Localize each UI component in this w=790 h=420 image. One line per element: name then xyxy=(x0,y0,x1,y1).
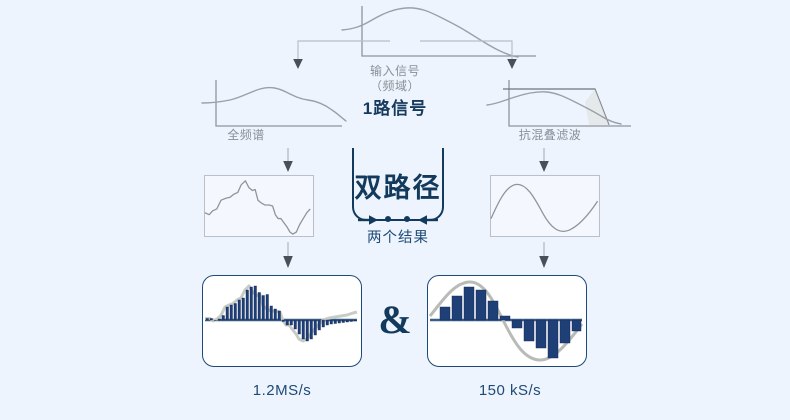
dual-path-dot-2 xyxy=(404,216,410,222)
dual-path-label: 双路径 xyxy=(350,166,446,205)
top-branch-connector xyxy=(280,38,530,78)
two-results-label: 两个结果 xyxy=(348,229,448,247)
input-signal-label-line2: （频域） xyxy=(340,79,450,94)
bottom-right-bar-chart xyxy=(428,276,584,364)
bottom-right-sampling-box xyxy=(427,275,587,367)
full-spectrum-chart xyxy=(200,78,352,134)
arrow-right-down-2 xyxy=(538,242,550,270)
arrow-left-down-2 xyxy=(282,242,294,270)
dual-path-inward-arrows xyxy=(356,212,440,228)
left-time-waveform-box xyxy=(204,175,314,237)
bottom-left-sampling-box xyxy=(202,275,362,367)
one-signal-label: 1路信号 xyxy=(335,99,455,119)
dual-path-dot-1 xyxy=(385,216,391,222)
arrow-left-down-1 xyxy=(282,148,294,174)
diagram-root: 输入信号 （频域） 1路信号 全频谱 xyxy=(0,0,790,420)
right-sine-waveform-box xyxy=(490,175,600,237)
anti-alias-filter-chart xyxy=(485,78,637,134)
full-spectrum-label: 全频谱 xyxy=(196,128,296,143)
arrow-right-down-1 xyxy=(538,148,550,174)
bottom-left-rate-label: 1.2MS/s xyxy=(212,382,352,400)
anti-alias-filter-label: 抗混叠滤波 xyxy=(490,128,610,143)
ampersand-conjunction: & xyxy=(378,300,412,340)
bottom-right-rate-label: 150 kS/s xyxy=(440,382,580,400)
bottom-left-bar-chart xyxy=(203,276,359,364)
